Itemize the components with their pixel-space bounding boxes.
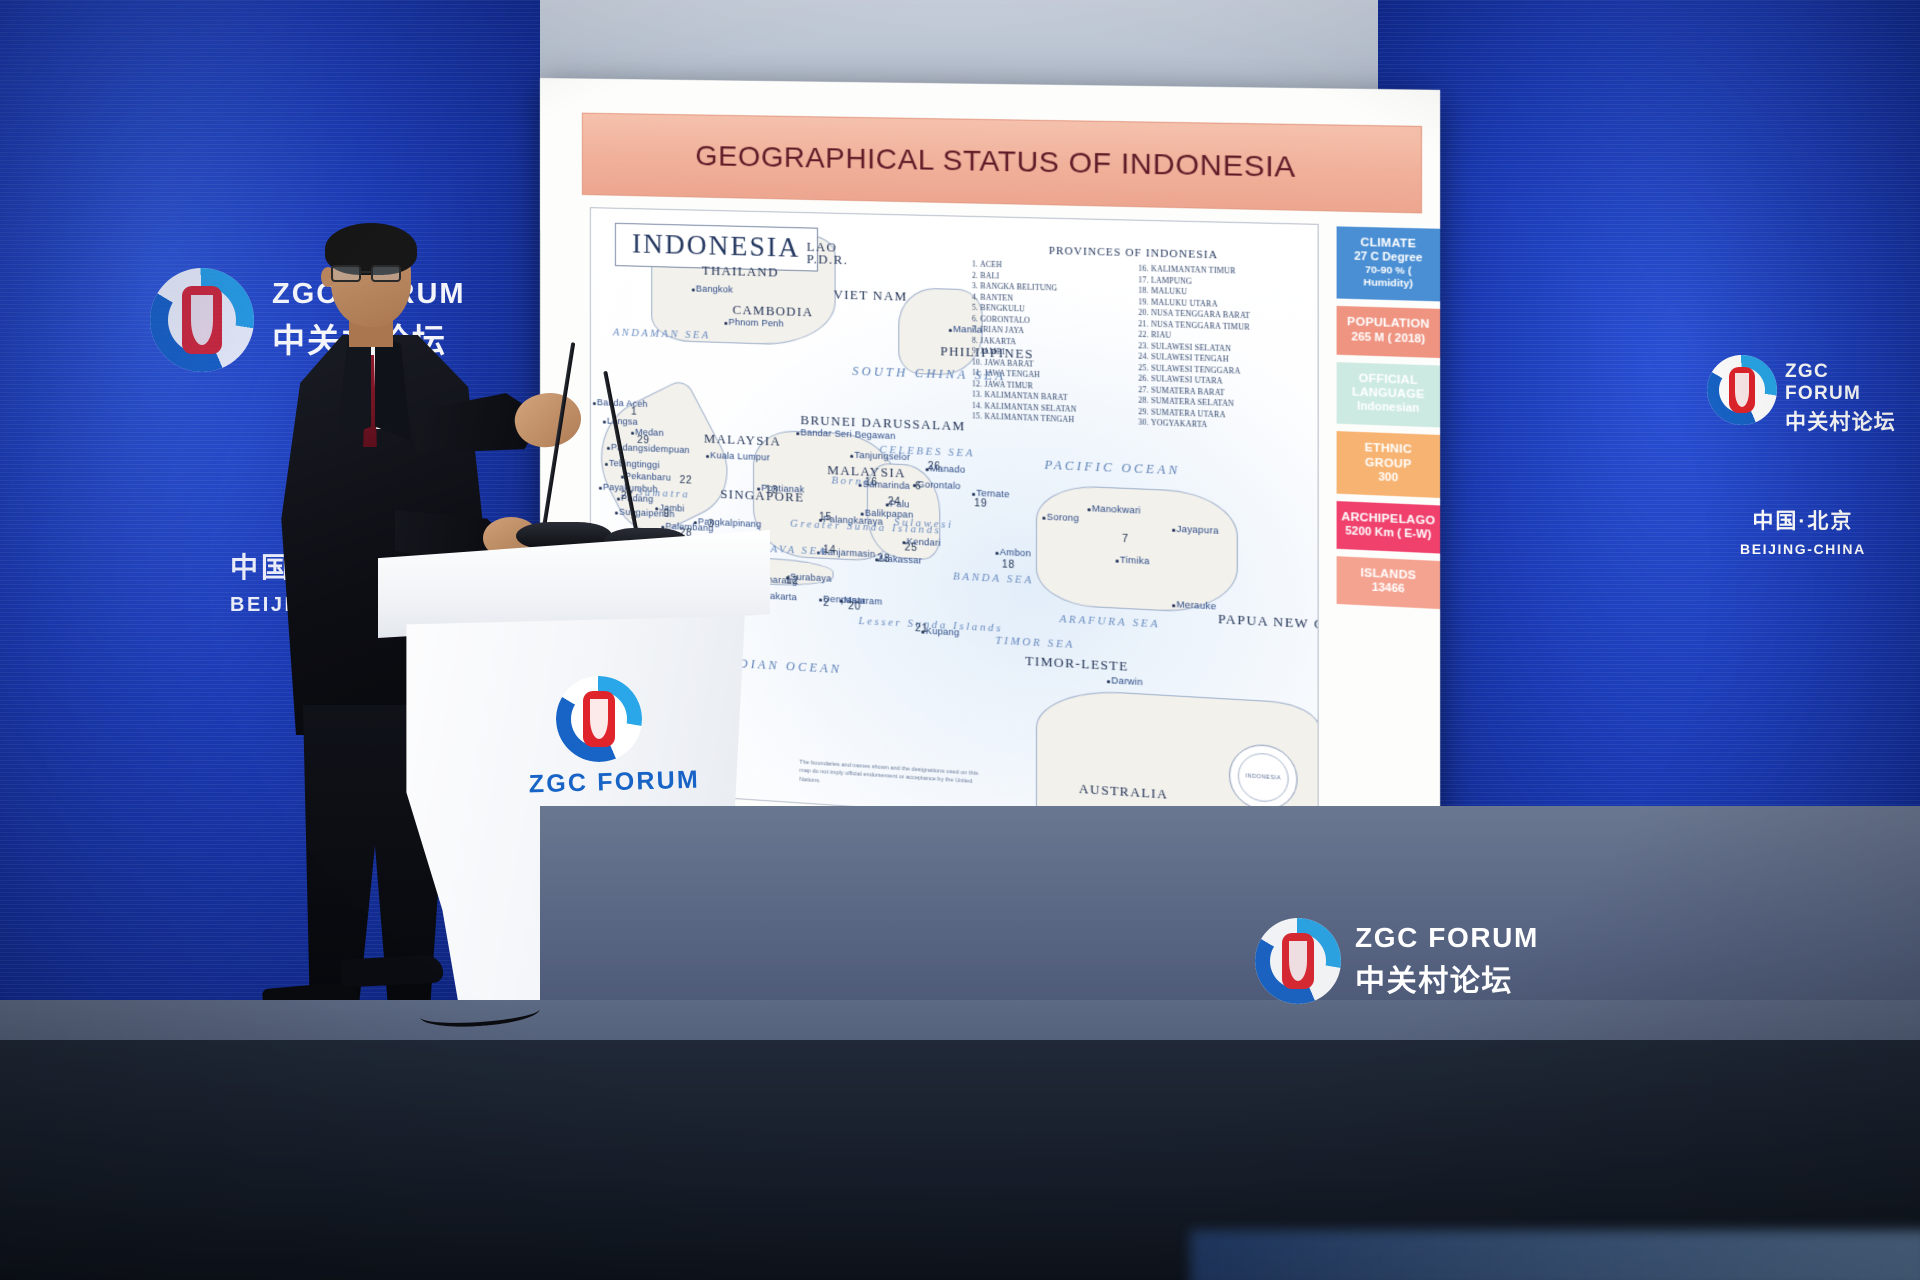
fact-box: ISLANDS13466 [1337,556,1441,609]
map-label: 9 [663,509,669,520]
map-city-dot [615,511,618,514]
landmass-papua [1036,484,1238,615]
map-city-dot [949,329,952,332]
floor-light-reflection [1190,1230,1920,1280]
watermark-brand-en: ZGC FORUM [1355,922,1539,954]
map-city-dot [1172,529,1175,532]
provinces-column-left: 1. ACEH2. BALI3. BANGKA BELITUNG4. BANTE… [972,259,1127,428]
map-title-text: INDONESIA [632,228,800,263]
fact-box-value: 300 [1341,469,1436,486]
map-label: Ambon [1000,547,1031,559]
fact-box: OFFICIAL LANGUAGEIndonesian [1337,362,1441,428]
map-city-dot [692,288,695,291]
map-city-dot [605,463,608,466]
zgc-forum-logo-icon [1255,918,1341,1004]
map-label: 14 [823,544,836,556]
map-label: P.D.R. [807,252,849,268]
map-label: PACIFIC OCEAN [1044,457,1180,478]
map-label: Tebingtinggi [609,458,660,470]
map-city-dot [1116,559,1119,562]
map-label: 29 [637,435,650,447]
watermark-branding: ZGC FORUM 中关村论坛 [1255,912,1555,1022]
map-city-dot [607,447,610,450]
map-label: 16 [865,477,878,489]
wall-right-sub-en: BEIJING-CHINA [1740,541,1866,557]
map-label: JAVA SEA [763,544,827,558]
map-label: 13 [765,485,778,497]
map-label: 20 [848,601,861,613]
fact-box: CLIMATE27 C Degree70-90 % ( Humidity) [1337,226,1441,301]
fact-box: ARCHIPELAGO5200 Km ( E-W) [1337,501,1441,554]
map-city-dot [694,521,697,524]
map-label: Darwin [1111,675,1143,687]
fact-box-value: 265 M ( 2018) [1341,330,1436,347]
map-label: 18 [1002,559,1015,571]
map-city-dot [724,322,727,325]
map-label: ANDAMAN SEA [613,327,711,341]
provinces-column-right: 16. KALIMANTAN TIMUR17. LAMPUNG18. MALUK… [1138,264,1297,435]
map-city-dot [617,497,620,500]
zgc-forum-logo-icon [150,268,254,372]
map-label: MALAYSIA [704,431,781,449]
map-city-dot [1087,508,1090,511]
map-city-dot [1042,517,1045,520]
wall-brand-right-sub: 中国·北京 BEIJING-CHINA [1740,505,1866,557]
map-city-dot [593,402,596,405]
map-label: 25 [905,542,918,554]
map-label: Manokwari [1092,503,1141,516]
map-label: Phnom Penh [728,317,783,329]
map-label: BANDA SEA [953,571,1034,586]
map-disclaimer: The boundaries and names shown and the d… [799,758,988,796]
map-label: 7 [1122,534,1129,546]
fact-box: POPULATION265 M ( 2018) [1337,306,1441,357]
fact-box-value-secondary: 70-90 % ( Humidity) [1341,264,1436,291]
map-label: 1 [631,406,637,417]
map-label: Timika [1120,554,1150,566]
map-label: Gorontalo [917,479,961,491]
map-city-dot [655,507,658,510]
map-label: TIMOR-LESTE [1025,654,1129,675]
map-label: 21 [915,623,928,635]
map-label: 22 [680,475,693,487]
conference-stage-scene: ZGC FORUM 中关村论坛 中国·北京 BEIJING-CHINA ZGC … [0,0,1920,1280]
map-city-dot [819,598,822,601]
map-city-dot [861,512,864,515]
map-country-labels: THAILANDLAOP.D.R.VIET NAMCAMBODIAPHILIPP… [591,208,1318,225]
map-city-dot [1172,604,1175,607]
fact-box-value: 5200 Km ( E-W) [1341,525,1436,543]
map-label: Banda Aceh [597,397,648,409]
map-label: THAILAND [702,263,779,280]
map-sea-labels: SOUTH CHINA SEAPACIFIC OCEANINDIAN OCEAN… [591,208,1318,225]
map-label: 6 [915,481,922,493]
fact-box: ETHNIC GROUP300 [1337,431,1441,498]
map-label: VIET NAM [834,287,908,305]
map-label: ARAFURA SEA [1059,614,1160,631]
map-city-dot [603,420,606,423]
map-city-dot [599,487,602,490]
map-province-numbers: 1292722928351748101130122202113151416242… [591,208,1318,225]
map-city-dot [706,455,709,458]
zgc-forum-logo-icon [1707,355,1777,425]
map-city-dot [757,487,760,490]
map-city-labels: BangkokPhnom PenhManilaBanda AcehKuala L… [591,208,1318,225]
map-label: Pekanbaru [625,471,671,483]
provinces-panel: PROVINCES OF INDONESIA 1. ACEH2. BALI3. … [972,244,1298,435]
map-city-dot [995,552,998,555]
map-label: PAPUA NEW GUINEA [1218,612,1319,636]
map-label: 19 [974,498,987,510]
map-label: 24 [888,496,901,508]
wall-right-brand-cn: 中关村论坛 [1785,406,1907,436]
map-label: 3 [708,519,714,530]
zgc-forum-logo-icon [556,676,642,762]
map-city-dot [1107,680,1110,683]
seal-text: INDONESIA [1246,773,1281,782]
map-city-dot [631,432,634,435]
eyeglasses-icon [331,265,409,283]
wall-right-brand-en: ZGC FORUM [1785,361,1907,405]
slide-title: GEOGRAPHICAL STATUS OF INDONESIA [695,140,1295,184]
map-label: Sumatra [637,487,690,500]
map-city-dot [972,493,975,496]
fact-box-key: ETHNIC GROUP [1341,441,1436,473]
map-label: Sorong [1047,512,1079,524]
map-label: TIMOR SEA [995,635,1075,651]
map-label: 12 [786,575,799,587]
map-city-dot [840,599,843,602]
map-label: Jayapura [1176,524,1218,536]
map-label: Bangkok [696,283,733,294]
fact-box-value: 27 C Degree [1341,250,1436,266]
map-label: 15 [819,512,832,524]
map-label: 23 [877,553,890,565]
map-label: 26 [928,461,941,473]
fact-boxes-column: CLIMATE27 C Degree70-90 % ( Humidity)POP… [1337,226,1441,616]
map-label: Merauke [1176,599,1216,612]
map-label: 2 [823,598,829,610]
map-city-dot [850,455,853,458]
watermark-brand-cn: 中关村论坛 [1355,956,1539,1000]
map-city-dot [796,432,799,435]
lectern-brand-en: ZGC FORUM [499,765,730,800]
wall-right-sub-cn: 中国·北京 [1740,505,1866,535]
slide-title-banner: GEOGRAPHICAL STATUS OF INDONESIA [582,113,1422,214]
fact-box-key: OFFICIAL LANGUAGE [1341,371,1436,403]
